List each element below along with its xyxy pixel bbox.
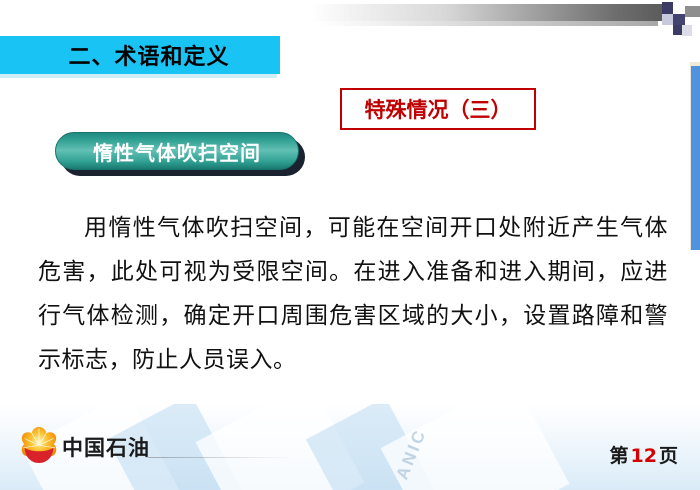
decor-square-lavender-1 bbox=[662, 14, 673, 25]
page-number-prefix: 第 bbox=[610, 445, 629, 467]
decor-square-navy-2 bbox=[673, 14, 685, 25]
decor-square-gray-1 bbox=[685, 6, 700, 17]
page-number: 第12页 bbox=[610, 441, 678, 468]
term-badge: 惰性气体吹扫空间 bbox=[55, 132, 305, 176]
page-number-suffix: 页 bbox=[659, 445, 678, 467]
decor-square-navy-3 bbox=[673, 25, 682, 35]
page-number-value: 12 bbox=[631, 445, 657, 467]
top-gradient-bar bbox=[310, 4, 665, 21]
special-case-label: 特殊情况（三） bbox=[340, 88, 536, 130]
term-badge-pill: 惰性气体吹扫空间 bbox=[55, 132, 299, 170]
petrochina-logo-icon bbox=[18, 426, 60, 468]
section-title-banner-shadow bbox=[0, 74, 277, 78]
decor-square-white-1 bbox=[673, 2, 685, 14]
right-accent-strip bbox=[690, 62, 700, 250]
brand-divider-rule bbox=[148, 457, 288, 458]
right-accent-strip-cap bbox=[690, 62, 700, 66]
term-badge-label: 惰性气体吹扫空间 bbox=[93, 137, 261, 166]
body-paragraph: 用惰性气体吹扫空间，可能在空间开口处附近产生气体危害，此处可视为受限空间。在进入… bbox=[38, 206, 668, 382]
decor-square-navy-1 bbox=[662, 2, 673, 14]
slide-canvas: 二、术语和定义 特殊情况（三） 惰性气体吹扫空间 用惰性气体吹扫空间，可能在空间… bbox=[0, 0, 700, 490]
decor-square-lavender-2 bbox=[682, 25, 692, 36]
top-gradient-bar-secondary bbox=[318, 21, 658, 26]
decor-square-white-2 bbox=[692, 17, 700, 36]
section-title-text: 二、术语和定义 bbox=[0, 36, 280, 74]
brand-name: 中国石油 bbox=[62, 432, 150, 462]
